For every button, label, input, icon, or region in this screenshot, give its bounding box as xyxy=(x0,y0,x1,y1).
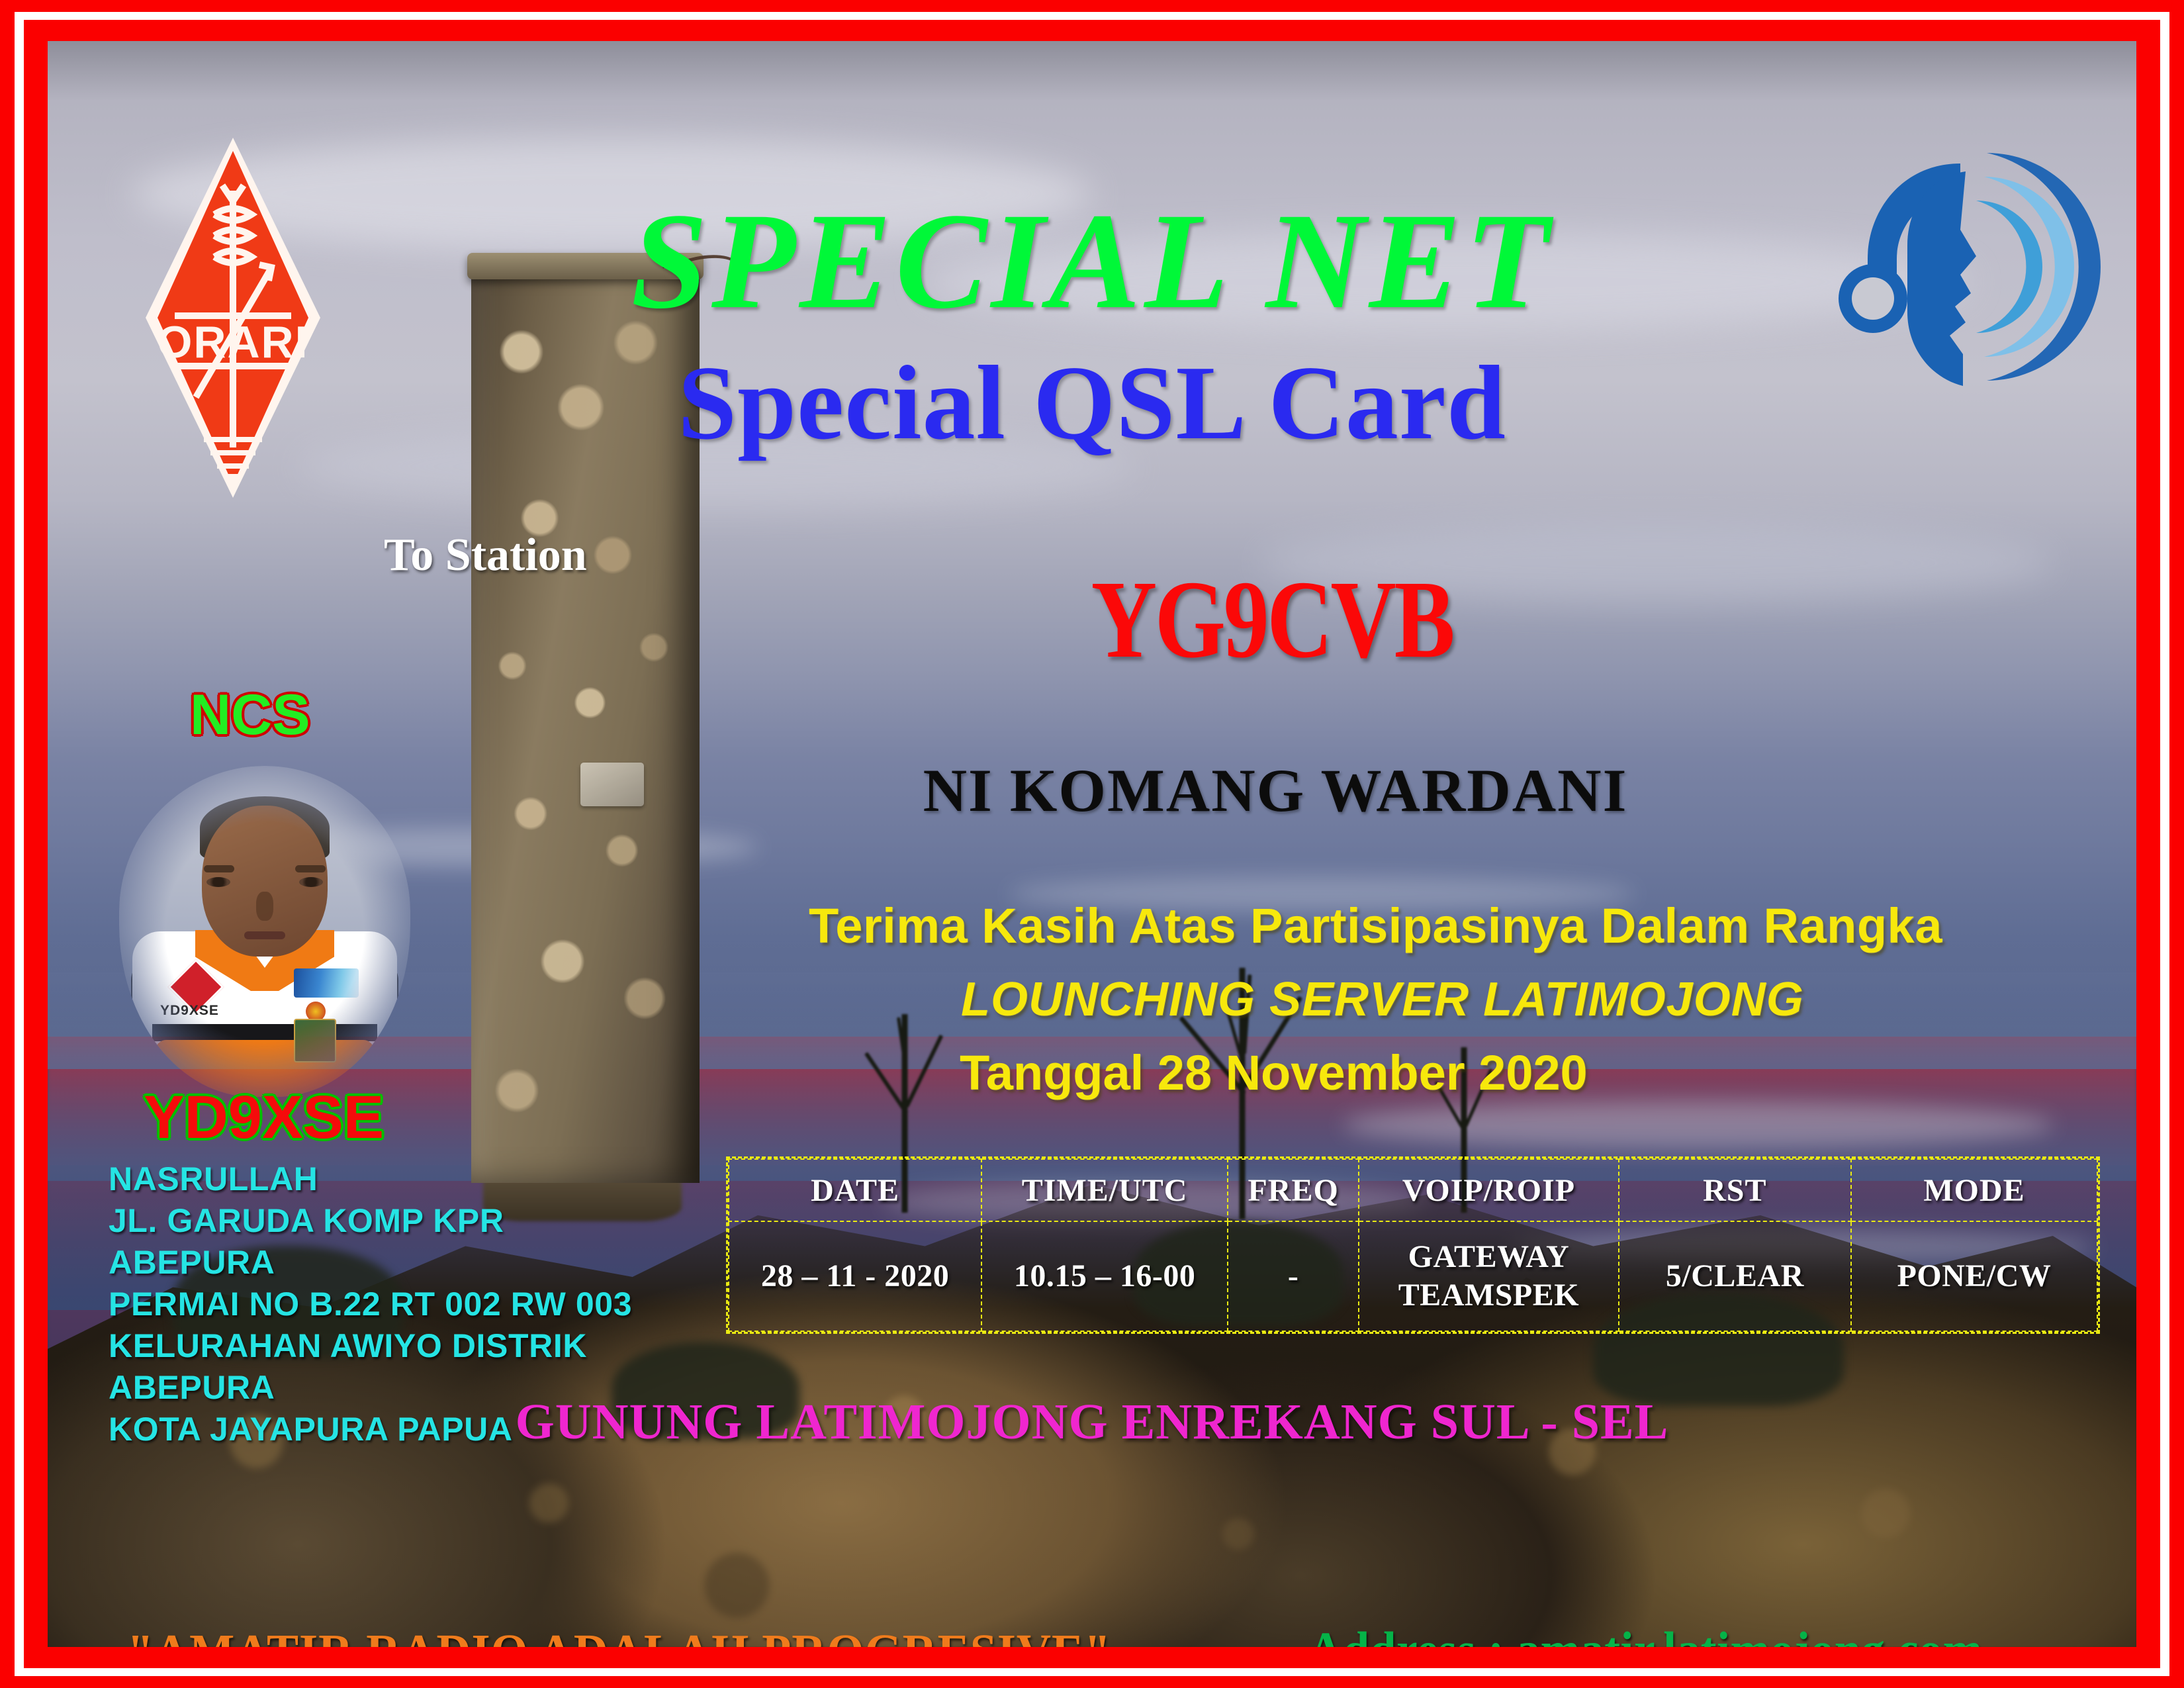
person-brow-right xyxy=(295,865,326,872)
address-line: PERMAI NO B.22 RT 002 RW 003 xyxy=(109,1284,632,1325)
table-header-mode: MODE xyxy=(1851,1159,2097,1221)
web-address-text: Address : amatir.latimojong.com xyxy=(1308,1624,1983,1647)
address-line: ABEPURA xyxy=(109,1242,632,1284)
operator-name: NI KOMANG WARDANI xyxy=(862,760,1689,821)
address-line: JL. GARUDA KOMP KPR xyxy=(109,1200,632,1242)
cell-mode: PONE/CW xyxy=(1851,1221,2097,1331)
motto-text: "AMATIR RADIO ADALAH PROGRESIVE" xyxy=(127,1627,1111,1647)
to-station-label: To Station xyxy=(384,532,587,579)
table-header-freq: FREQ xyxy=(1228,1159,1359,1221)
uniform-callsign-text: YD9XSE xyxy=(160,1003,219,1019)
address-line: NASRULLAH xyxy=(109,1158,632,1200)
cairn-plaque xyxy=(580,763,644,806)
cell-voip-line1: GATEWAY xyxy=(1360,1238,1617,1276)
cell-freq: - xyxy=(1228,1221,1359,1331)
table-header-time: TIME/UTC xyxy=(981,1159,1228,1221)
person-eye-left xyxy=(206,877,230,887)
uniform-belt xyxy=(152,1024,377,1041)
event-date: Tanggal 28 November 2020 xyxy=(809,1049,2119,1098)
person-mouth xyxy=(244,931,285,939)
cell-voip: GATEWAY TEAMSPEK xyxy=(1359,1221,1618,1331)
ncs-role-label: NCS xyxy=(190,686,310,743)
table-header-voip: VOIP/ROIP xyxy=(1359,1159,1618,1221)
person-brow-left xyxy=(204,865,234,872)
location-line: GUNUNG LATIMOJONG ENREKANG SUL - SEL xyxy=(48,1397,2136,1447)
card-photo-area: ORARI xyxy=(48,41,2136,1647)
ncs-callsign-label: YD9XSE xyxy=(144,1087,384,1148)
qso-details-table: DATE TIME/UTC FREQ VOIP/ROIP RST MODE 28… xyxy=(726,1156,2100,1334)
table-row: 28 – 11 - 2020 10.15 – 16-00 - GATEWAY T… xyxy=(729,1221,2097,1331)
title-special-qsl-card: Special QSL Card xyxy=(48,350,2136,455)
ncs-operator-photo: YD9XSE xyxy=(119,766,410,1097)
cell-date: 28 – 11 - 2020 xyxy=(729,1221,981,1331)
cell-rst: 5/CLEAR xyxy=(1619,1221,1851,1331)
address-line: KELURAHAN AWIYO DISTRIK xyxy=(109,1325,632,1367)
qsl-card: ORARI xyxy=(0,0,2184,1688)
table-header-rst: RST xyxy=(1619,1159,1851,1221)
table-header-row: DATE TIME/UTC FREQ VOIP/ROIP RST MODE xyxy=(729,1159,2097,1221)
person-eye-right xyxy=(299,877,323,887)
table-header-date: DATE xyxy=(729,1159,981,1221)
cell-time: 10.15 – 16-00 xyxy=(981,1221,1228,1331)
cell-voip-line2: TEAMSPEK xyxy=(1360,1276,1617,1315)
uniform-logo-patch xyxy=(294,968,359,998)
person-nose xyxy=(256,892,273,921)
event-name: LOUNCHING SERVER LATIMOJONG xyxy=(809,976,2119,1023)
station-callsign: YG9CVB xyxy=(963,564,1582,675)
thanks-line: Terima Kasih Atas Partisipasinya Dalam R… xyxy=(809,902,2119,951)
id-card xyxy=(294,1019,336,1062)
title-special-net: SPECIAL NET xyxy=(48,192,2136,330)
